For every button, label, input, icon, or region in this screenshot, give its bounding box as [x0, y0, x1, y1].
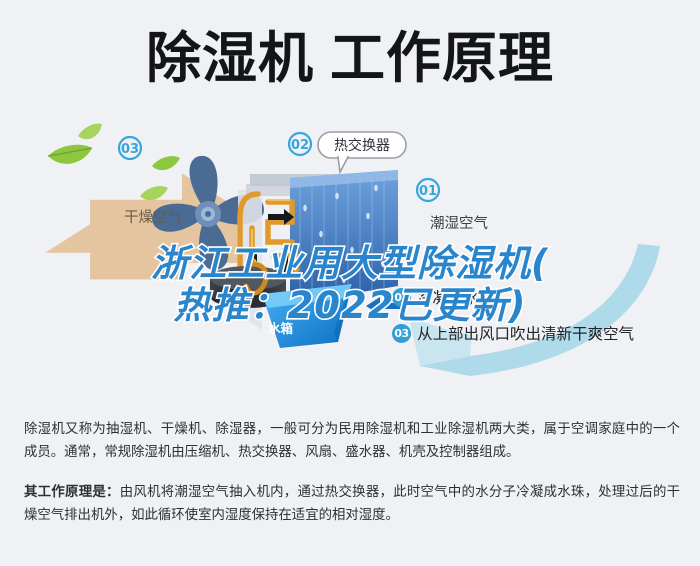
- paragraph-intro: 除湿机又称为抽湿机、干燥机、除湿器，一般可分为民用除湿机和工业除湿机两大类，属于…: [24, 418, 680, 464]
- callout-text-03: 从上部出风口吹出清新干爽空气: [417, 322, 634, 344]
- heat-exchanger-fins: [290, 170, 398, 304]
- water-tank-label-text: 水箱: [268, 321, 294, 336]
- paragraph-principle: 其工作原理是：由风机将潮湿空气抽入机内，通过热交换器，此时空气中的水分子冷凝成水…: [24, 481, 680, 527]
- callout-badge-02: 02: [392, 288, 411, 307]
- badge-02-group: 02: [289, 133, 311, 155]
- dehumidifier-diagram: 热交换器 02 01 潮湿空气 03 干燥空气 水箱: [0, 118, 700, 408]
- page-root: 除湿机工作原理: [0, 0, 700, 566]
- heat-exchanger-callout: 热交换器: [318, 132, 406, 172]
- paragraph-principle-lead: 其工作原理是：: [24, 485, 120, 500]
- humid-air-label-text: 潮湿空气: [430, 215, 488, 232]
- badge-03-group: 03 干燥空气: [119, 137, 182, 226]
- badge-02-text: 02: [291, 138, 309, 153]
- callout-badge-03: 03: [392, 324, 411, 343]
- title-text: 除湿机工作原理: [146, 28, 554, 90]
- heat-exchanger-label-text: 热交换器: [334, 137, 390, 154]
- badge-01-group: 01 潮湿空气: [417, 179, 488, 232]
- water-tank: [262, 284, 352, 348]
- title-part-1: 除湿机: [146, 26, 314, 90]
- paragraph-principle-rest: 由风机将潮湿空气抽入机内，通过热交换器，此时空气中的水分子冷凝成水珠，处理过后的…: [24, 485, 680, 523]
- badge-01-text: 01: [419, 184, 437, 199]
- title-part-2: 工作原理: [330, 26, 554, 90]
- leaf-decoration-group: [48, 124, 180, 201]
- callout-list: 02 冷凝成水珠 03 从上部出风口吹出清新干爽空气: [392, 286, 692, 358]
- dry-air-label-text: 干燥空气: [124, 209, 182, 226]
- article-body: 除湿机又称为抽湿机、干燥机、除湿器，一般可分为民用除湿机和工业除湿机两大类，属于…: [24, 418, 680, 527]
- callout-item-03: 03 从上部出风口吹出清新干爽空气: [392, 322, 692, 344]
- callout-text-02: 冷凝成水珠: [417, 286, 495, 308]
- badge-03-text: 03: [121, 142, 139, 157]
- page-title: 除湿机工作原理: [0, 28, 700, 90]
- callout-item-02: 02 冷凝成水珠: [392, 286, 692, 308]
